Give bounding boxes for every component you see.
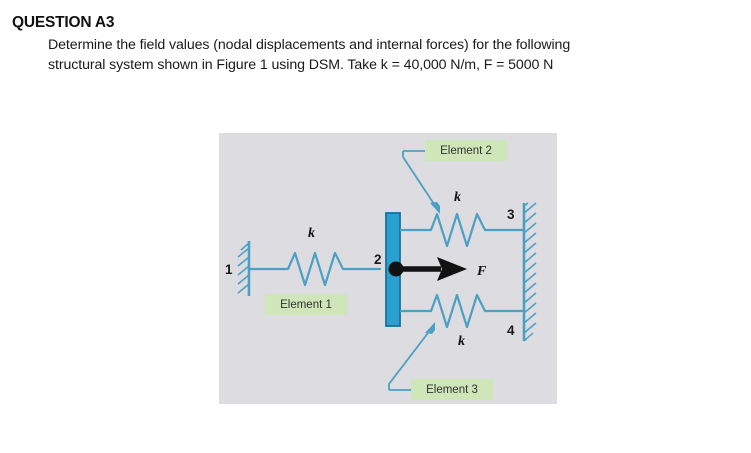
left-wall-support <box>238 241 249 296</box>
node-label-3: 3 <box>507 207 515 222</box>
callout-element-1: Element 1 <box>265 294 347 315</box>
node-label-2: 2 <box>374 252 382 267</box>
callout-element-1-label: Element 1 <box>280 299 332 311</box>
question-block: QUESTION A3 Determine the field values (… <box>12 14 572 76</box>
stiffness-label-element-1: k <box>308 226 315 241</box>
callout-element-3: Element 3 <box>389 322 493 400</box>
structural-system-diagram: 1 k Element 1 2 F k <box>219 133 557 404</box>
question-body-text: Determine the field values (nodal displa… <box>12 35 572 76</box>
figure-panel: 1 k Element 1 2 F k <box>219 133 557 404</box>
stiffness-label-element-3: k <box>458 334 465 349</box>
node-label-1: 1 <box>225 262 233 277</box>
stiffness-label-element-2: k <box>454 190 461 205</box>
element-1-spring <box>249 253 380 285</box>
node-label-4: 4 <box>507 323 515 338</box>
right-wall-support <box>524 203 536 341</box>
callout-element-3-label: Element 3 <box>426 384 478 396</box>
question-title: QUESTION A3 <box>12 14 572 32</box>
force-label-F: F <box>476 264 487 279</box>
callout-element-2-label: Element 2 <box>440 145 492 157</box>
